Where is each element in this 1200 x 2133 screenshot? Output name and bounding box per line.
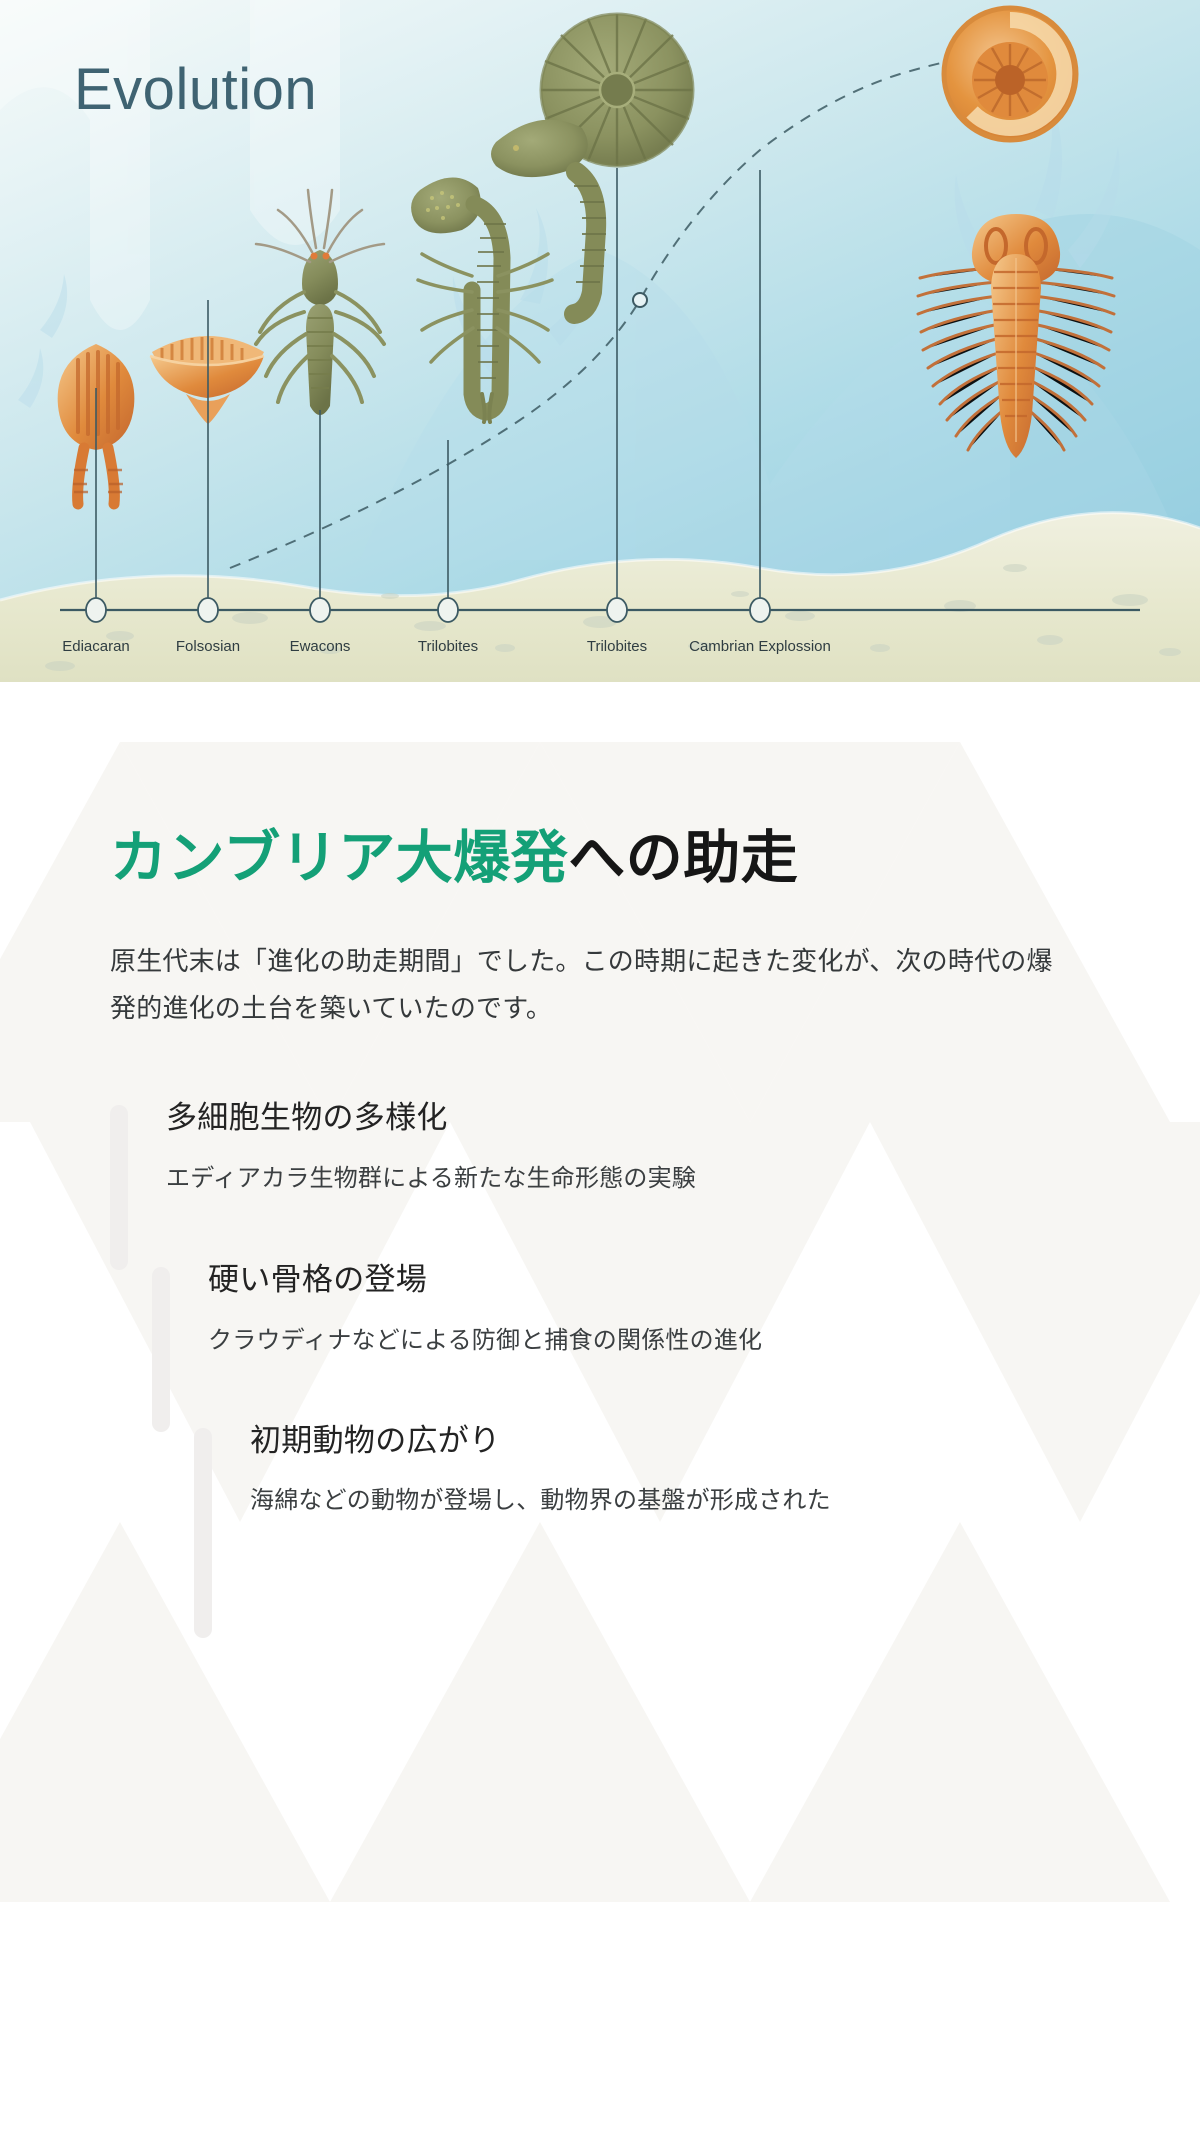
list-item-description: 海綿などの動物が登場し、動物界の基盤が形成された — [250, 1480, 1090, 1522]
article-body: カンブリア大爆発への助走 原生代末は「進化の助走期間」でした。この時期に起きた変… — [0, 682, 1200, 2133]
list-item-title: 初期動物の広がり — [250, 1420, 1090, 1462]
list-item-title: 硬い骨格の登場 — [208, 1259, 1090, 1301]
page-title: カンブリア大爆発への助走 — [110, 825, 1090, 892]
timeline-label-1: Folsosian — [176, 638, 240, 655]
evolution-article-page: Evolution Ediacaran Folsosian Ewacons Tr… — [0, 0, 1200, 2133]
list-item-description: クラウディナなどによる防御と捕食の関係性の進化 — [208, 1320, 1090, 1362]
list-item: 硬い骨格の登場 クラウディナなどによる防御と捕食の関係性の進化 — [152, 1259, 1090, 1361]
list-item: 多細胞生物の多様化 エディアカラ生物群による新たな生命形態の実験 — [110, 1097, 1090, 1199]
item-accent-bar — [152, 1267, 170, 1432]
timeline-label-3: Trilobites — [418, 638, 478, 655]
list-item: 初期動物の広がり 海綿などの動物が登場し、動物界の基盤が形成された — [194, 1420, 1090, 1522]
list-item-title: 多細胞生物の多様化 — [166, 1097, 1090, 1139]
list-item-description: エディアカラ生物群による新たな生命形態の実験 — [166, 1158, 1090, 1200]
timeline-label-5: Cambrian Explossion — [689, 638, 831, 655]
page-title-accent: カンブリア大爆発 — [110, 826, 568, 890]
timeline-label-4: Trilobites — [587, 638, 647, 655]
creature-orange-spiral-disc — [944, 8, 1076, 140]
hero-illustration: Evolution Ediacaran Folsosian Ewacons Tr… — [0, 0, 1200, 682]
hero-title: Evolution — [74, 56, 317, 123]
page-title-rest: への助走 — [568, 826, 798, 890]
item-accent-bar — [110, 1105, 128, 1270]
key-points-list: 多細胞生物の多様化 エディアカラ生物群による新たな生命形態の実験 硬い骨格の登場… — [110, 1097, 1090, 1522]
trend-node — [633, 293, 647, 307]
timeline-label-0: Ediacaran — [62, 638, 130, 655]
lede-paragraph: 原生代末は「進化の助走期間」でした。この時期に起きた変化が、次の時代の爆発的進化… — [110, 938, 1075, 1031]
timeline-label-2: Ewacons — [290, 638, 351, 655]
item-accent-bar — [194, 1428, 212, 1638]
